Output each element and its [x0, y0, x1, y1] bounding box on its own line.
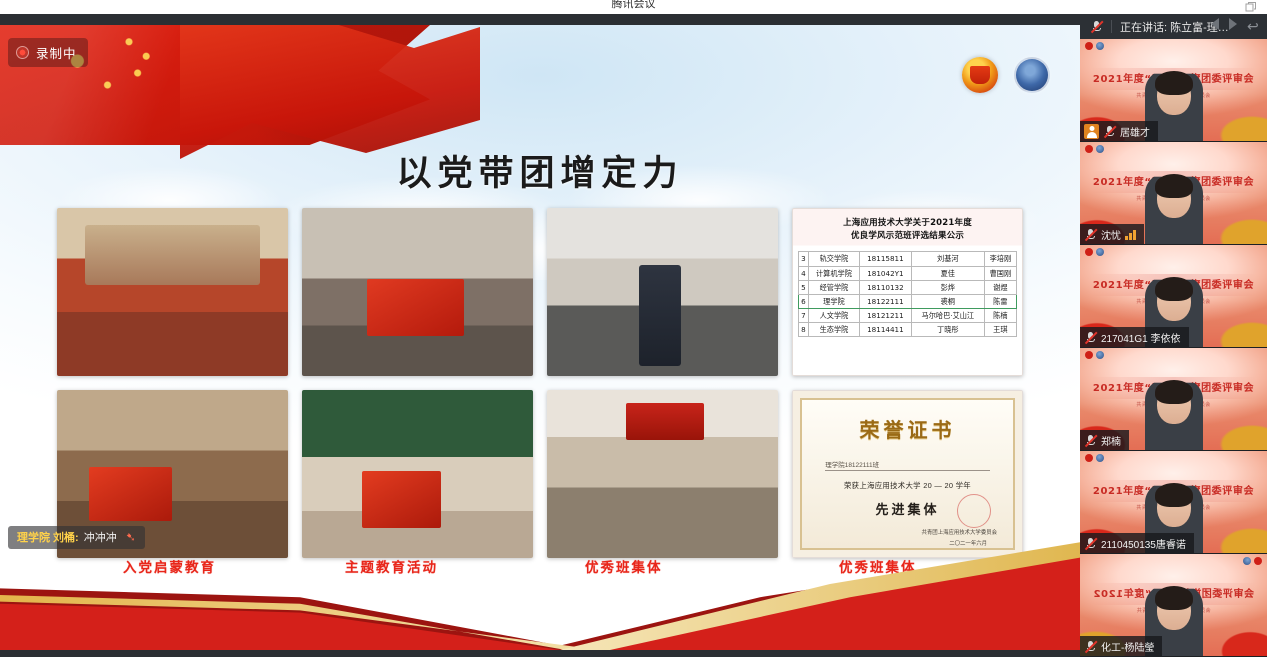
mic-muted-icon[interactable]: [1084, 228, 1097, 241]
document-fade: [793, 355, 1022, 375]
table-cell-name2: 王琪: [984, 323, 1016, 337]
university-badge-icon: [1096, 248, 1104, 256]
certificate-body: 荣获上海应用技术大学 20 — 20 学年: [844, 480, 971, 491]
table-cell-college: 生态学院: [808, 323, 859, 337]
doc-title-line2: 优良学风示范班评选结果公示: [798, 230, 1017, 243]
table-cell-name1: 刘基河: [911, 252, 984, 266]
mic-muted-icon[interactable]: [1084, 640, 1097, 653]
photo-greenboard-group: [302, 390, 533, 558]
participant-name: 居雄才: [1120, 124, 1150, 139]
background-logo-row: [1085, 351, 1104, 359]
arrow-back-icon[interactable]: ↩: [1247, 18, 1263, 35]
chat-sender: 理学院 刘桶:: [17, 529, 79, 545]
rocket-emoji-icon: ➷: [126, 530, 136, 544]
avatar: [1084, 124, 1099, 139]
participant-tile[interactable]: 2021年度“五四”红旗团委评审会共青团上海应用技术大学委员会沈忧: [1080, 142, 1267, 245]
table-cell-id: 18122111: [859, 294, 911, 308]
participant-name: 沈忧: [1101, 227, 1121, 242]
participant-video-figure: [1145, 172, 1203, 244]
window-title: 腾讯会议: [0, 0, 1267, 11]
cyl-badge-icon: [1085, 248, 1093, 256]
chat-message-overlay: 理学院 刘桶: 冲冲冲 ➷: [8, 526, 145, 549]
photo-notice-document: 上海应用技术大学关于2021年度 优良学风示范班评选结果公示 3轨交学院1811…: [792, 208, 1023, 376]
window-titlebar: 腾讯会议: [0, 0, 1267, 14]
university-badge-icon: [1243, 557, 1251, 565]
red-seal-icon: [957, 494, 991, 528]
table-cell-college: 轨交学院: [808, 252, 859, 266]
university-seal-emblem: [1014, 57, 1050, 93]
table-cell-id: 181042Y1: [859, 266, 911, 280]
participant-name: 郑楠: [1101, 433, 1121, 448]
participant-tile[interactable]: 会审评委团旗红”四五“度年1202会员委学大术技用应海上团青共化工-杨陆瑩: [1080, 554, 1267, 657]
participant-panel: 正在讲话: 陈立富-理学院: ↩ 2021年度“五四”红旗团委评审会共青团上海应…: [1080, 14, 1267, 657]
background-logo-row: [1085, 145, 1104, 153]
table-cell-college: 经管学院: [808, 280, 859, 294]
table-cell-name2: 李培刚: [984, 252, 1016, 266]
university-badge-icon: [1096, 454, 1104, 462]
header-divider: [1111, 20, 1112, 33]
participant-tiles[interactable]: 2021年度“五四”红旗团委评审会共青团上海应用技术大学委员会居雄才2021年度…: [1080, 39, 1267, 657]
tile-footer: 居雄才: [1080, 121, 1158, 141]
presentation-slide: 以党带团增定力 上海应用技术大学关于2021年度 优良学风示范班评选结果公示 3…: [0, 25, 1080, 650]
cyl-badge-icon: [1085, 42, 1093, 50]
university-badge-icon: [1096, 351, 1104, 359]
photo-grid: 上海应用技术大学关于2021年度 优良学风示范班评选结果公示 3轨交学院1811…: [57, 208, 1023, 558]
communist-youth-league-emblem: [962, 57, 998, 93]
cyl-badge-icon: [1254, 557, 1262, 565]
table-cell-no: 7: [799, 309, 809, 323]
slide-emblems: [962, 57, 1050, 93]
table-cell-no: 6: [799, 294, 809, 308]
chat-text: 冲冲冲: [84, 529, 117, 545]
mic-muted-icon[interactable]: [1090, 20, 1103, 33]
conference-screen: 腾讯会议 以党带团增定力: [0, 0, 1267, 657]
cyl-badge-icon: [1085, 145, 1093, 153]
table-cell-name2: 陈雷: [984, 294, 1016, 308]
table-row: 5经管学院18110132彭烨谢煜: [799, 280, 1017, 294]
table-row: 4计算机学院181042Y1夏佳曹国刚: [799, 266, 1017, 280]
cyl-badge-icon: [1085, 454, 1093, 462]
certificate-org: 共青团上海应用技术大学委员会: [922, 528, 997, 536]
audio-level-icon: [1125, 229, 1136, 240]
university-badge-icon: [1096, 42, 1104, 50]
window-restore-icon[interactable]: [1245, 1, 1257, 13]
photo-classroom-flag: [302, 208, 533, 376]
mic-muted-icon[interactable]: [1103, 125, 1116, 138]
table-cell-name2: 陈楠: [984, 309, 1016, 323]
table-row: 3轨交学院18115811刘基河李培刚: [799, 252, 1017, 266]
recording-label: 录制中: [36, 43, 77, 62]
table-cell-id: 18121211: [859, 309, 911, 323]
tile-footer: 217041G1 李依依: [1080, 327, 1189, 347]
slide-ribbon-decoration: [0, 540, 1080, 650]
tile-footer: 沈忧: [1080, 224, 1144, 244]
table-cell-id: 18115811: [859, 252, 911, 266]
mic-muted-icon[interactable]: [1084, 331, 1097, 344]
recording-badge[interactable]: 录制中: [8, 38, 88, 67]
participant-video-figure: [1145, 378, 1203, 450]
table-cell-no: 4: [799, 266, 809, 280]
table-cell-no: 5: [799, 280, 809, 294]
table-cell-name1: 彭烨: [911, 280, 984, 294]
mic-muted-icon[interactable]: [1084, 537, 1097, 550]
table-cell-id: 18110132: [859, 280, 911, 294]
table-cell-no: 8: [799, 323, 809, 337]
notice-table: 3轨交学院18115811刘基河李培刚4计算机学院181042Y1夏佳曹国刚5经…: [798, 251, 1017, 337]
cyl-badge-icon: [1085, 351, 1093, 359]
table-cell-no: 3: [799, 252, 809, 266]
table-cell-name1: 夏佳: [911, 266, 984, 280]
certificate-recipient-line: 理学院18122111班: [825, 459, 990, 471]
honor-certificate: 荣誉证书 理学院18122111班 荣获上海应用技术大学 20 — 20 学年 …: [793, 391, 1022, 557]
panel-header: 正在讲话: 陈立富-理学院: ↩: [1080, 14, 1267, 39]
participant-tile[interactable]: 2021年度“五四”红旗团委评审会共青团上海应用技术大学委员会郑楠: [1080, 348, 1267, 451]
table-row: 8生态学院18114411丁晓彤王琪: [799, 323, 1017, 337]
photo-seminar-room: [547, 208, 778, 376]
background-logo-row: [1243, 557, 1262, 565]
table-cell-name2: 谢煜: [984, 280, 1016, 294]
shared-screen-stage[interactable]: 以党带团增定力 上海应用技术大学关于2021年度 优良学风示范班评选结果公示 3…: [0, 14, 1080, 657]
photo-library-meeting: [547, 390, 778, 558]
participant-name: 化工-杨陆瑩: [1101, 639, 1154, 654]
mic-muted-icon[interactable]: [1084, 434, 1097, 447]
notice-document: 上海应用技术大学关于2021年度 优良学风示范班评选结果公示 3轨交学院1811…: [793, 209, 1022, 375]
tile-footer: 2110450135唐睿诺: [1080, 533, 1194, 553]
photo-tiananmen-group: [57, 208, 288, 376]
doc-title-line1: 上海应用技术大学关于2021年度: [798, 217, 1017, 230]
university-badge-icon: [1096, 145, 1104, 153]
table-cell-name1: 马尔哈巴·艾山江: [911, 309, 984, 323]
participant-name: 2110450135唐睿诺: [1101, 536, 1186, 551]
table-cell-college: 理学院: [808, 294, 859, 308]
table-cell-id: 18114411: [859, 323, 911, 337]
chevron-left-icon[interactable]: [1211, 18, 1227, 35]
slide-title: 以党带团增定力: [0, 145, 1080, 196]
record-dot-icon: [16, 46, 29, 59]
photo-honor-certificate: 荣誉证书 理学院18122111班 荣获上海应用技术大学 20 — 20 学年 …: [792, 390, 1023, 558]
background-logo-row: [1085, 454, 1104, 462]
participant-tile[interactable]: 2021年度“五四”红旗团委评审会共青团上海应用技术大学委员会居雄才: [1080, 39, 1267, 142]
background-logo-row: [1085, 248, 1104, 256]
chevron-right-icon[interactable]: [1229, 18, 1245, 35]
participant-tile[interactable]: 2021年度“五四”红旗团委评审会共青团上海应用技术大学委员会217041G1 …: [1080, 245, 1267, 348]
certificate-award: 先进集体: [875, 499, 939, 518]
table-cell-name1: 裘桐: [911, 294, 984, 308]
table-cell-college: 计算机学院: [808, 266, 859, 280]
panel-nav-controls: ↩: [1211, 18, 1263, 35]
table-cell-name2: 曹国刚: [984, 266, 1016, 280]
table-cell-college: 人文学院: [808, 309, 859, 323]
background-logo-row: [1085, 42, 1104, 50]
certificate-title: 荣誉证书: [860, 414, 956, 443]
table-cell-name1: 丁晓彤: [911, 323, 984, 337]
tile-footer: 化工-杨陆瑩: [1080, 636, 1162, 656]
table-row: 7人文学院18121211马尔哈巴·艾山江陈楠: [799, 309, 1017, 323]
participant-tile[interactable]: 2021年度“五四”红旗团委评审会共青团上海应用技术大学委员会211045013…: [1080, 451, 1267, 554]
table-row: 6理学院18122111裘桐陈雷: [799, 294, 1017, 308]
participant-name: 217041G1 李依依: [1101, 330, 1181, 345]
tile-footer: 郑楠: [1080, 430, 1129, 450]
